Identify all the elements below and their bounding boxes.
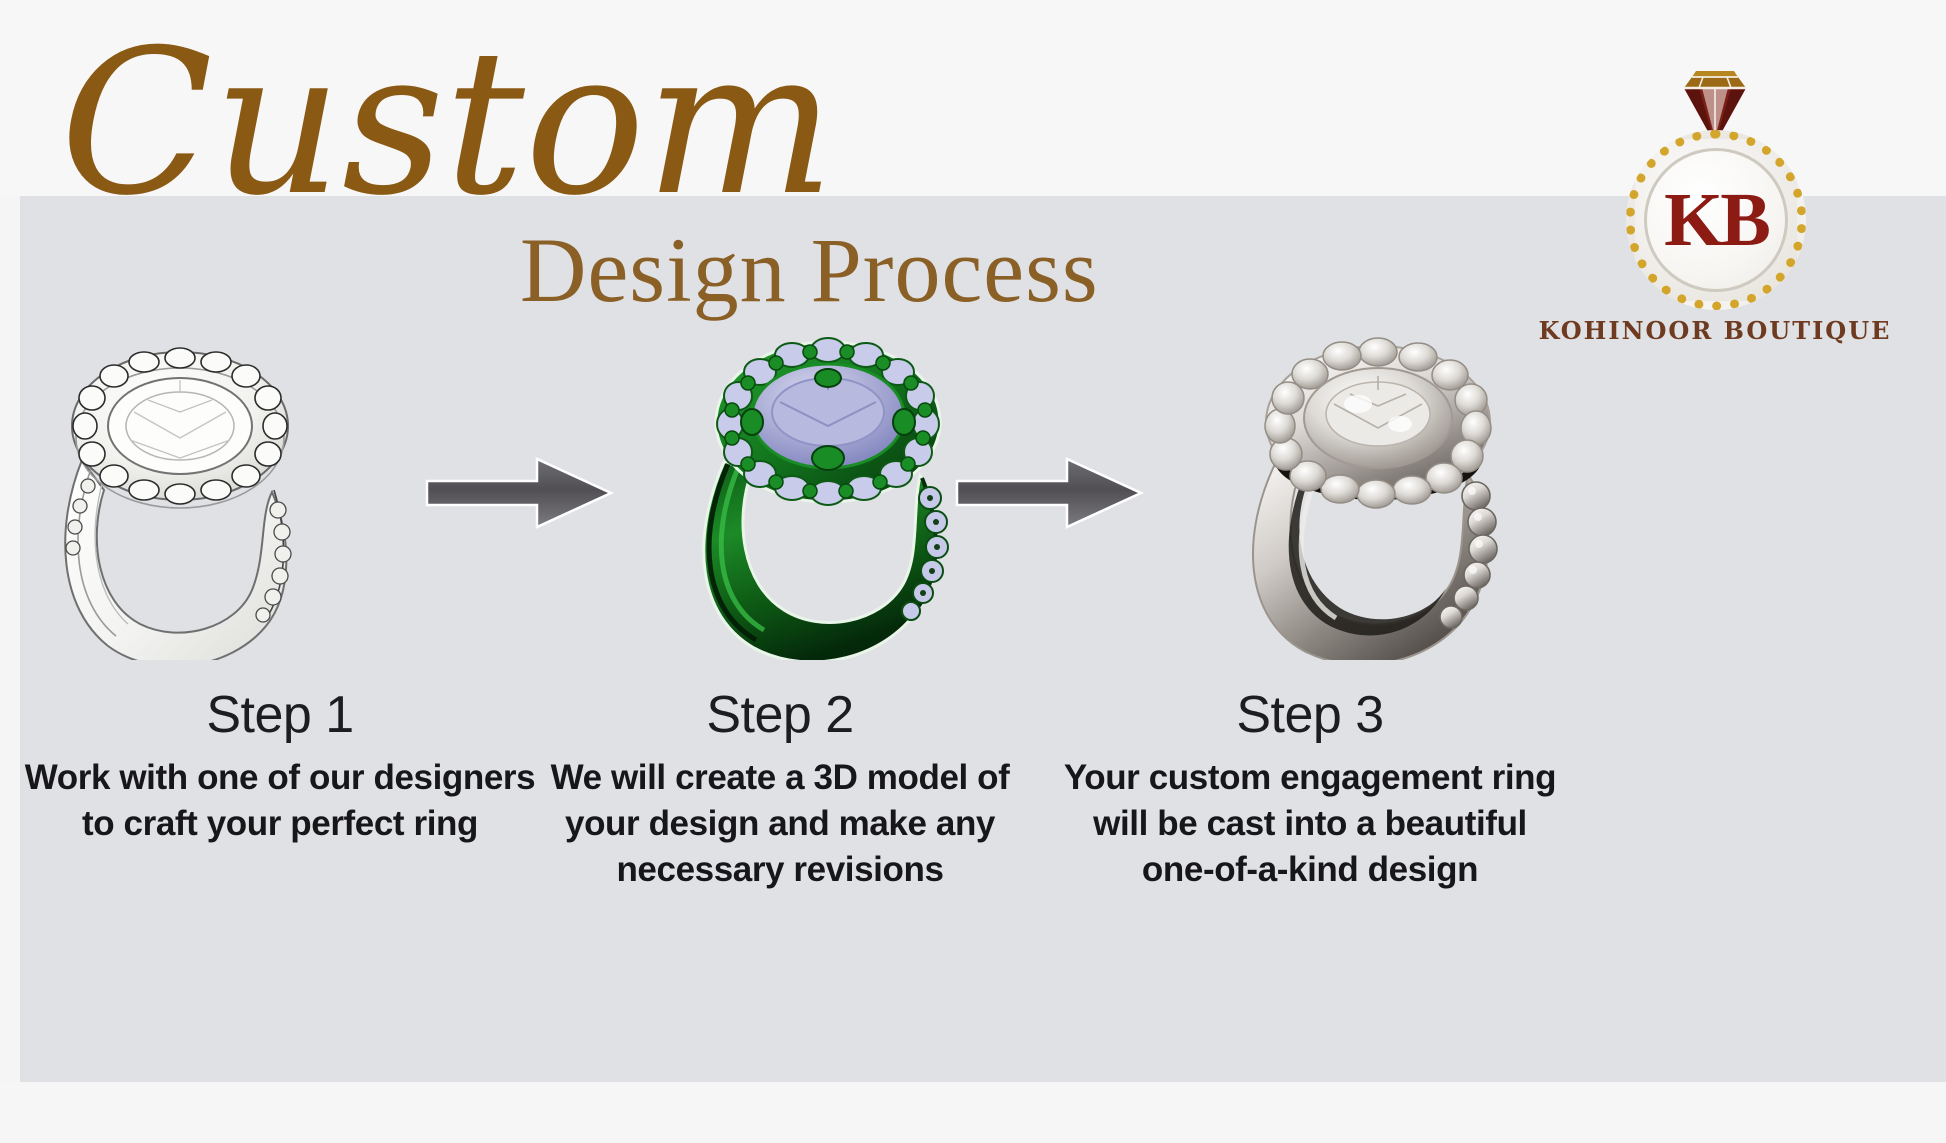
brand-name: KOHINOOR BOUTIQUE: [1538, 316, 1892, 345]
step-column-3: Step 3 Your custom engagement ring will …: [1030, 330, 1590, 870]
green-3d-model-ring-icon: [680, 330, 980, 660]
step-1-description: Work with one of our designers to craft …: [0, 755, 560, 847]
step-1-desc-line-1: Work with one of our designers: [0, 755, 560, 801]
step-3-desc-line-2: will be cast into a beautiful: [1030, 801, 1590, 847]
step-3-desc-line-3: one-of-a-kind design: [1030, 847, 1590, 893]
step-column-2: Step 2 We will create a 3D model of your…: [500, 330, 1060, 870]
finished-diamond-ring-icon: [1230, 330, 1530, 660]
step-2-description: We will create a 3D model of your design…: [500, 755, 1060, 893]
background-band-bottom: [0, 1082, 1946, 1143]
step-2-desc-line-2: your design and make any: [500, 801, 1060, 847]
brand-logo: KB KOHINOOR BOUTIQUE: [1590, 68, 1840, 318]
logo-monogram: KB: [1644, 148, 1788, 292]
cad-wireframe-ring-icon: [30, 340, 330, 660]
step-column-1: Step 1 Work with one of our designers to…: [0, 330, 560, 870]
infographic-canvas: Custom Design Process KB KOHINOOR BOUTIQ…: [0, 0, 1946, 1143]
step-1-title: Step 1: [0, 685, 560, 745]
step-2-title: Step 2: [500, 685, 1060, 745]
step-2-desc-line-3: necessary revisions: [500, 847, 1060, 893]
step-3-artwork: [1030, 330, 1590, 660]
step-1-desc-line-2: to craft your perfect ring: [0, 801, 560, 847]
page-subtitle: Design Process: [520, 222, 1140, 318]
step-3-title: Step 3: [1030, 685, 1590, 745]
step-2-desc-line-1: We will create a 3D model of: [500, 755, 1060, 801]
step-3-desc-line-1: Your custom engagement ring: [1030, 755, 1590, 801]
step-3-description: Your custom engagement ring will be cast…: [1030, 755, 1590, 893]
